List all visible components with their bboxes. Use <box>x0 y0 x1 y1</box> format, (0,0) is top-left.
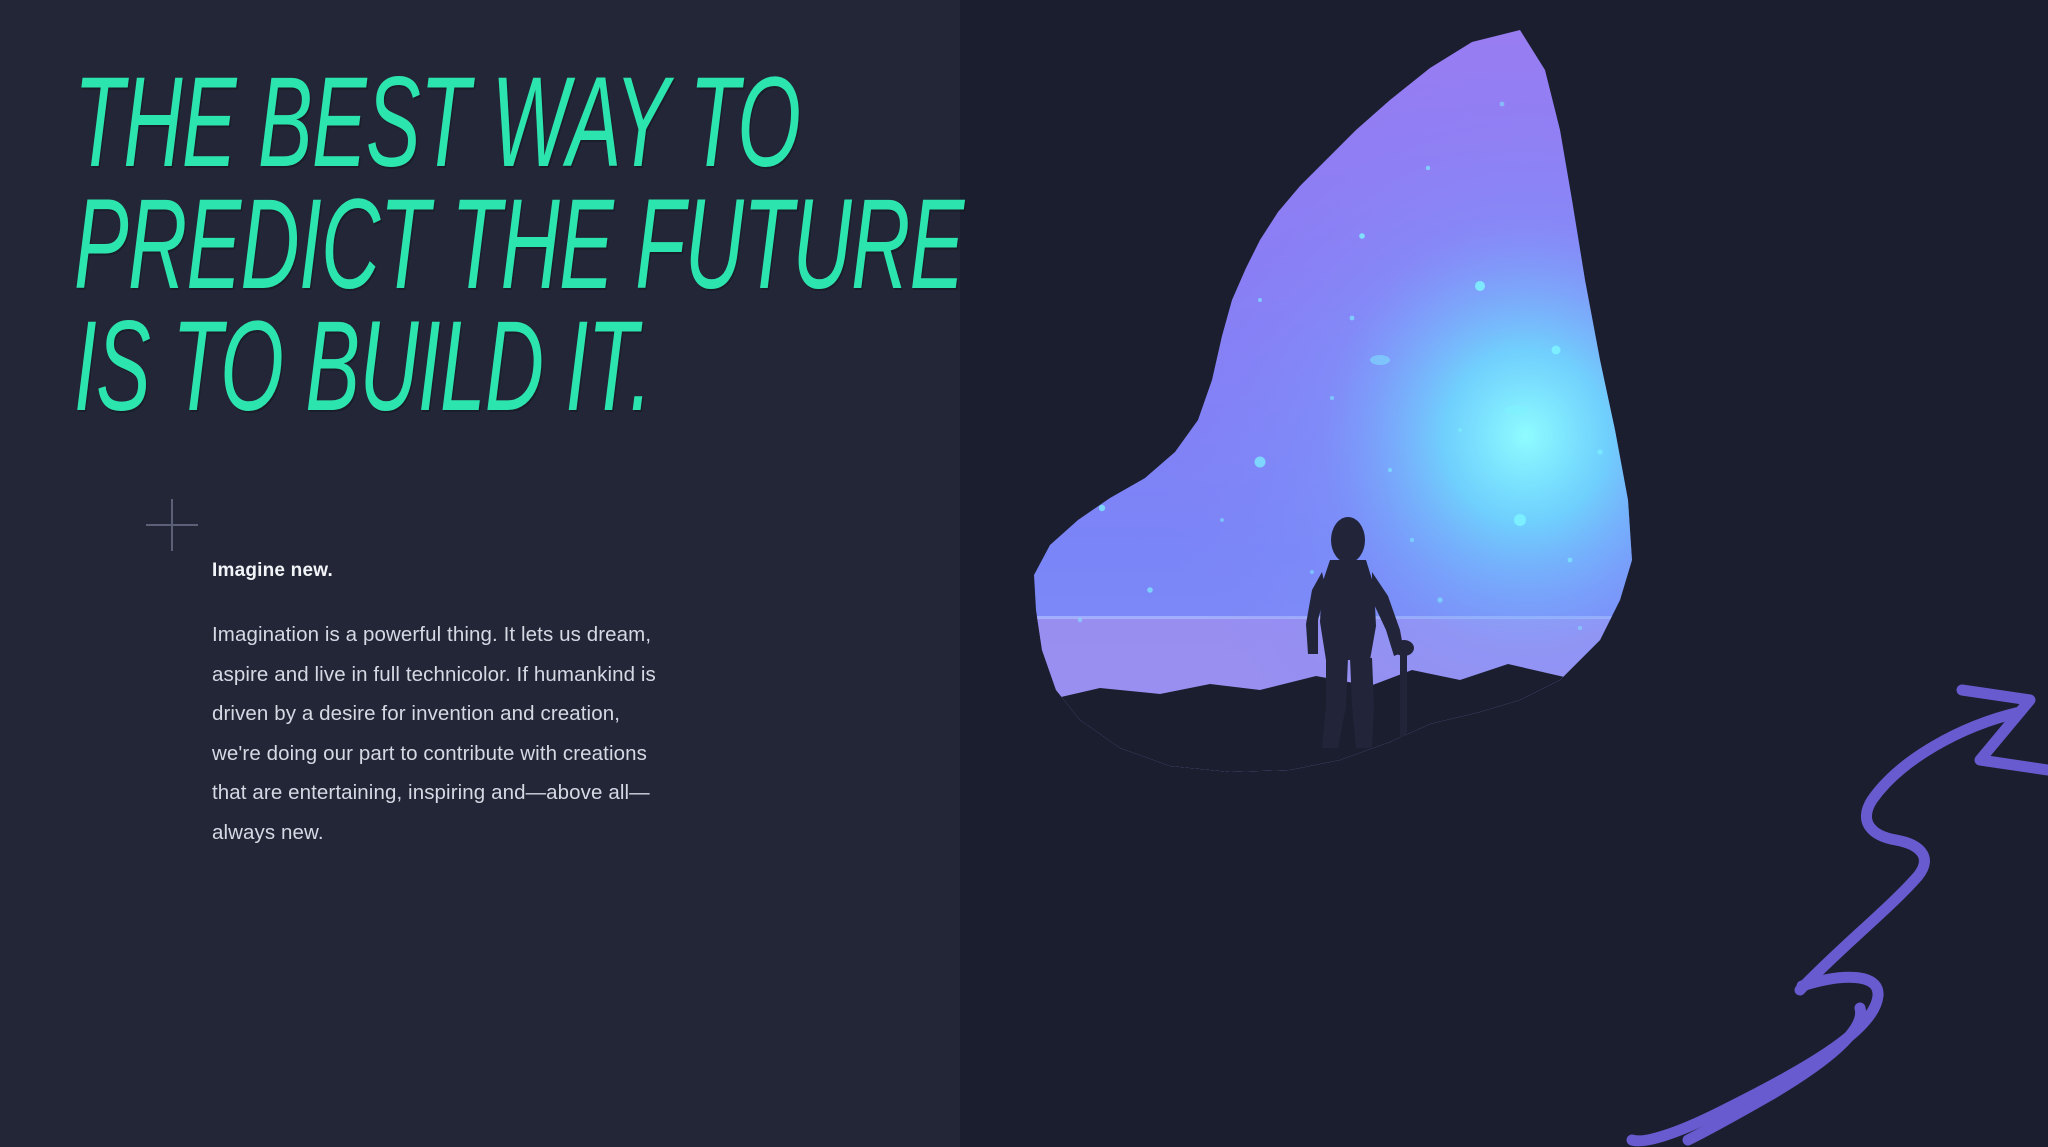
artwork-canvas <box>960 0 2048 1147</box>
night-sky <box>960 0 2048 1147</box>
foreground-rocks <box>960 664 2048 1147</box>
page-title: THE BEST WAY TO PREDICT THE FUTURE IS TO… <box>74 62 765 428</box>
hero-artwork <box>960 0 2048 1147</box>
cave-scene-svg <box>960 0 2048 1147</box>
ocean-band <box>960 618 2048 778</box>
light-glow <box>960 0 2048 1147</box>
person-silhouette <box>1306 517 1414 754</box>
cave-opening <box>960 0 2048 1147</box>
purple-scribble <box>1632 690 2048 1141</box>
stars <box>1074 102 1611 630</box>
headline-line-1: THE BEST WAY TO <box>74 62 765 184</box>
plus-mark-vertical <box>171 499 173 551</box>
copy-title: Imagine new. <box>212 560 672 582</box>
headline-line-2: PREDICT THE FUTURE <box>74 184 765 306</box>
headline-line-3: IS TO BUILD IT. <box>74 306 765 428</box>
copy-block: Imagine new. Imagination is a powerful t… <box>212 560 672 852</box>
copy-body: Imagination is a powerful thing. It lets… <box>212 615 672 852</box>
horizon-line <box>960 616 2048 619</box>
hero-section: THE BEST WAY TO PREDICT THE FUTURE IS TO… <box>0 0 2048 1147</box>
cave-wall <box>960 0 2048 1147</box>
plus-mark-icon <box>146 499 198 551</box>
